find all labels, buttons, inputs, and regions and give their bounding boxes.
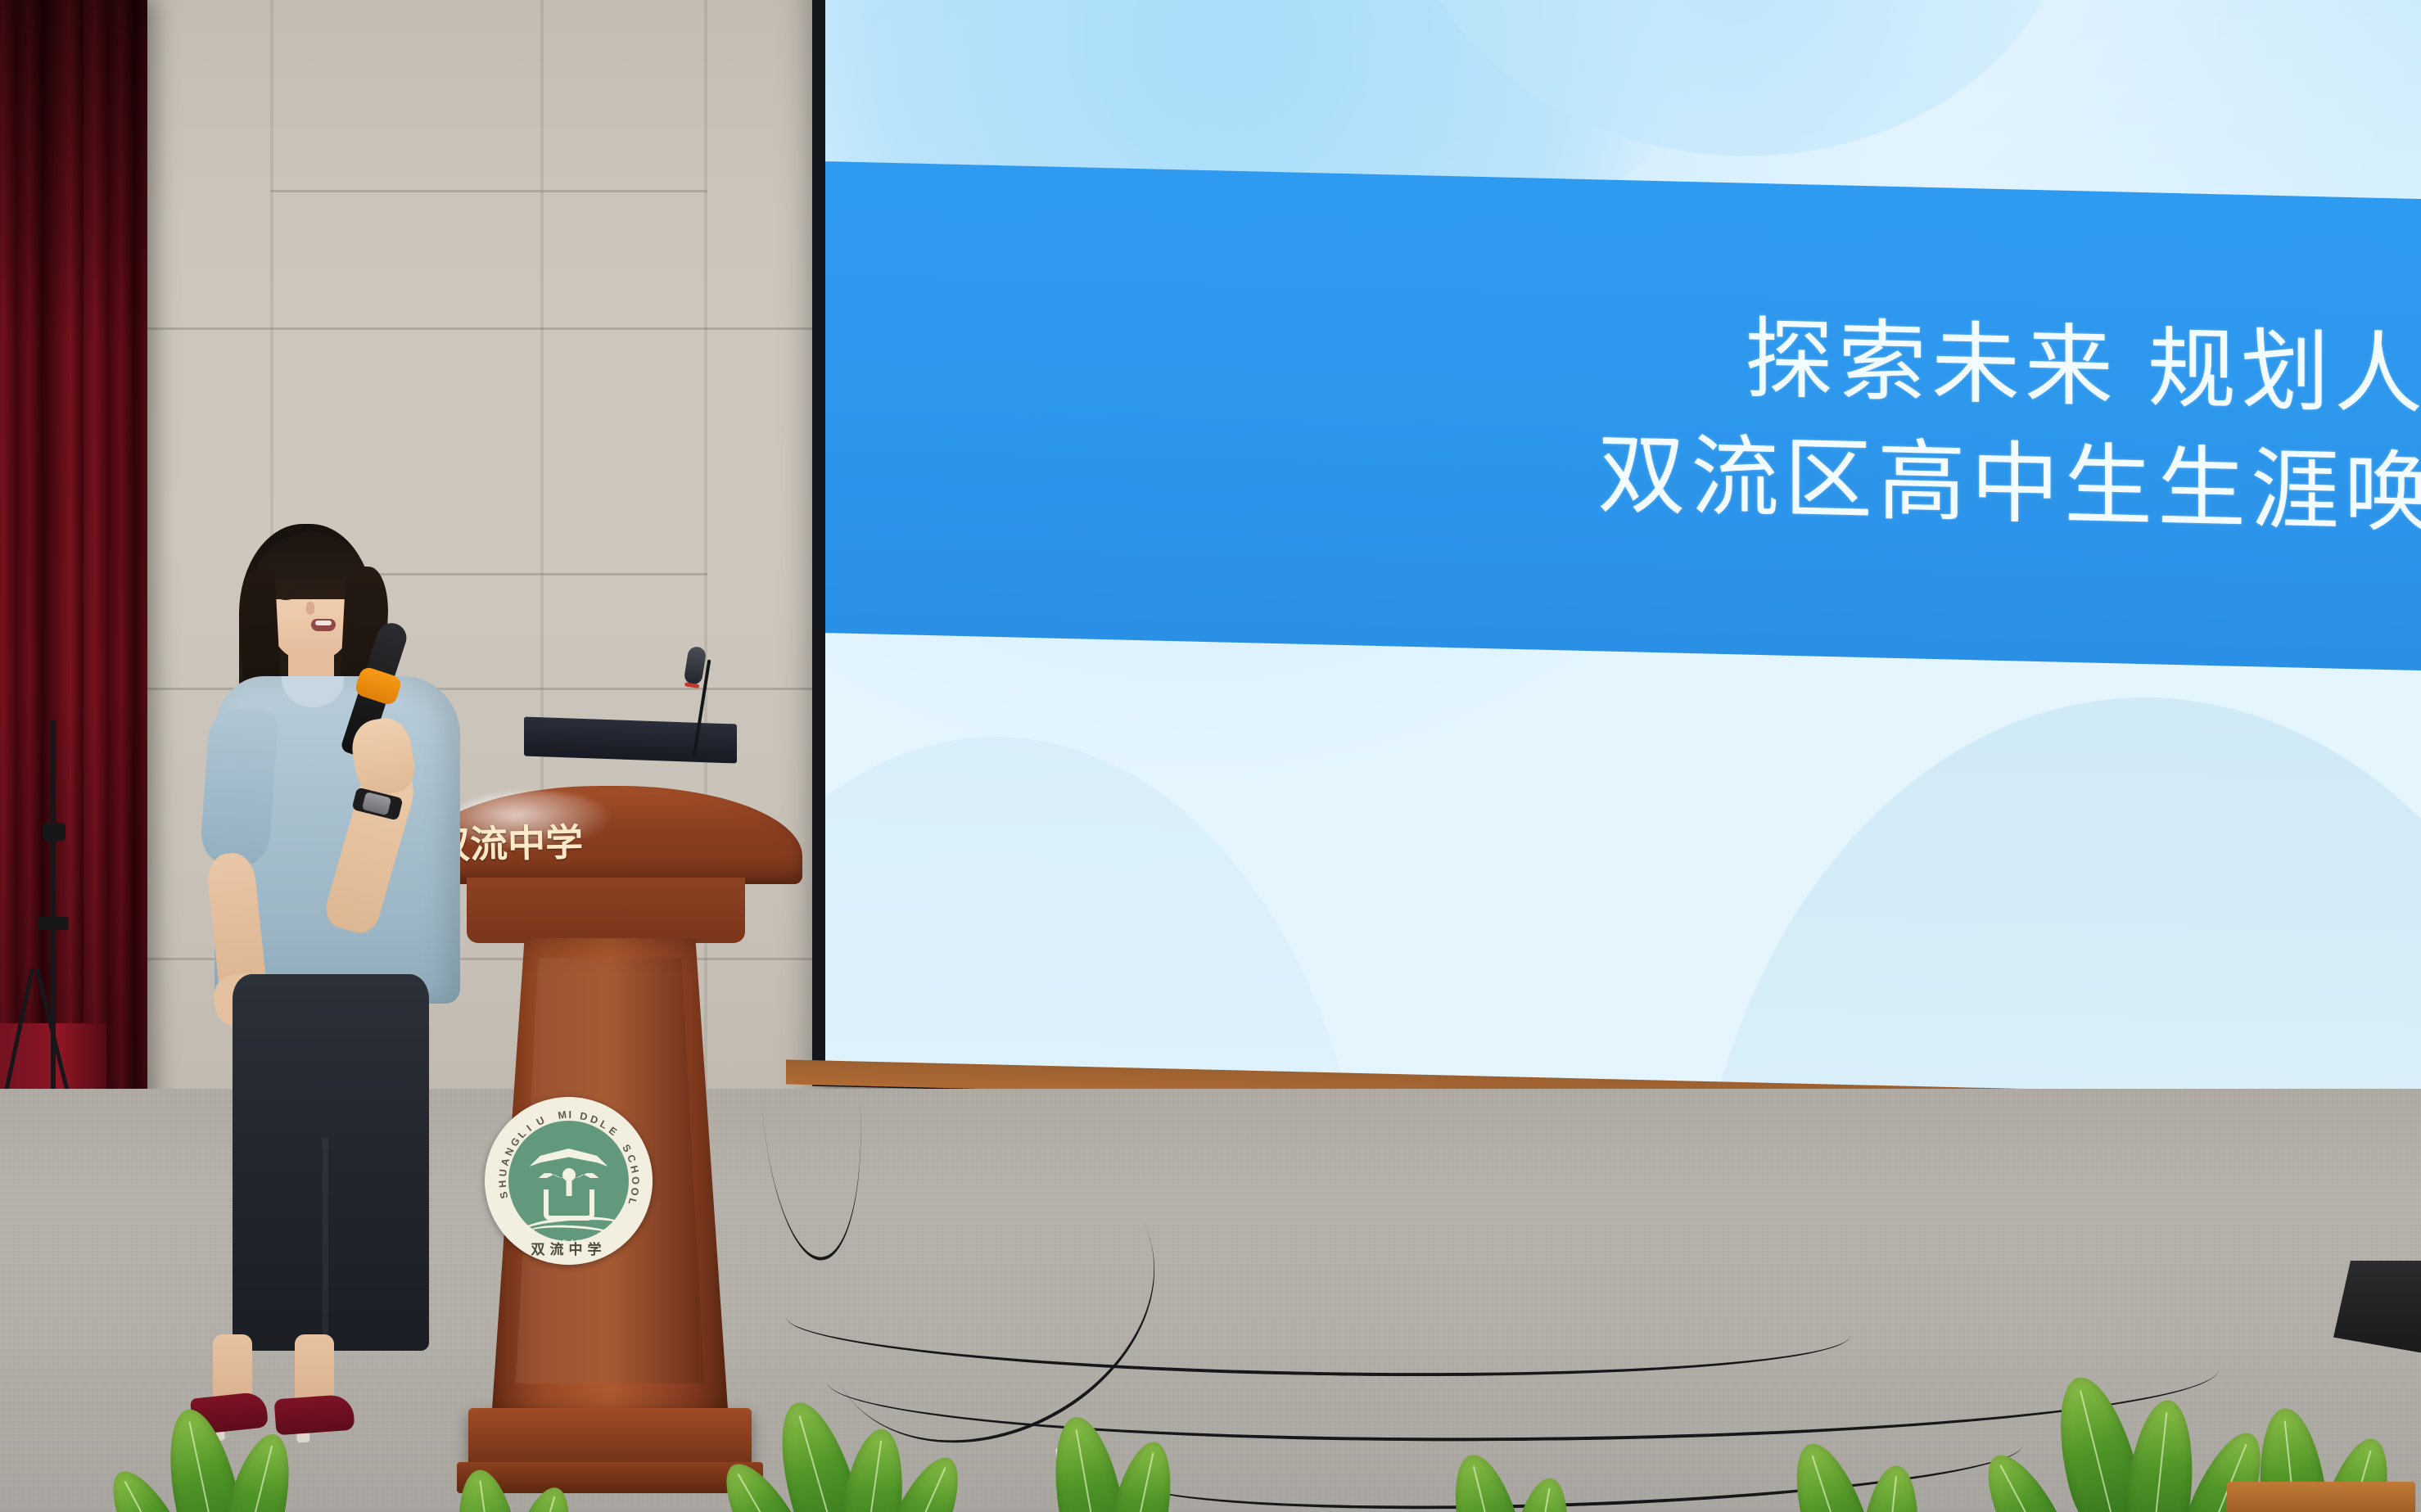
slide-dome-shape	[1689, 687, 2421, 1104]
slide-title-block: 探索未来 规划人生 双流区高中生生涯唤醒	[825, 162, 2421, 670]
stage-curtain	[0, 0, 147, 1146]
slide-title-line-1: 探索未来 规划人生	[1745, 300, 2421, 437]
plant-leaf	[2121, 1397, 2200, 1512]
slide-title-line-2: 双流区高中生生涯唤醒	[1597, 416, 2421, 557]
plant-leaf	[1856, 1463, 1925, 1512]
presenter-eye-left	[277, 593, 295, 600]
plant-leaf	[1442, 1448, 1534, 1512]
presentation-scene: 探索未来 规划人生 双流区高中生生涯唤醒 双流中学 SHUANGLIU MIDD…	[0, 0, 2421, 1512]
lectern-engraving: 双流中学	[431, 809, 784, 870]
plant-pot	[2227, 1482, 2415, 1512]
plant-leaf	[1780, 1435, 1885, 1512]
plant-leaf	[501, 1481, 581, 1512]
presenter-eye-right	[319, 591, 337, 598]
slide-dome-shape-secondary	[825, 728, 1369, 1103]
lectern-neck	[467, 878, 745, 943]
presenter-nose	[306, 602, 314, 615]
crest-figure-icon	[539, 1168, 599, 1221]
tripod-clamp	[38, 917, 69, 930]
plant-leaf	[1505, 1474, 1577, 1512]
crest-pavilion-icon	[530, 1149, 608, 1167]
crest-chinese-name: 双流中学	[531, 1238, 607, 1258]
school-crest: SHUANGLIU MIDDLE SCHOOL 1940 双流中学	[485, 1097, 653, 1265]
presenter-mouth	[311, 619, 336, 631]
presentation-slide: 探索未来 规划人生 双流区高中生生涯唤醒	[825, 0, 2421, 1103]
plant-leaf	[449, 1466, 526, 1512]
projection-surface: 探索未来 规划人生 双流区高中生生涯唤醒	[825, 0, 2421, 1103]
projection-screen: 探索未来 规划人生 双流区高中生生涯唤醒	[812, 0, 2421, 1124]
tripod-knob	[43, 823, 65, 841]
presenter-sleeve-left	[199, 706, 278, 866]
foliage-row	[0, 1277, 2421, 1512]
podium-monitor	[524, 716, 737, 763]
crest-inner-field: 1940	[506, 1118, 631, 1243]
